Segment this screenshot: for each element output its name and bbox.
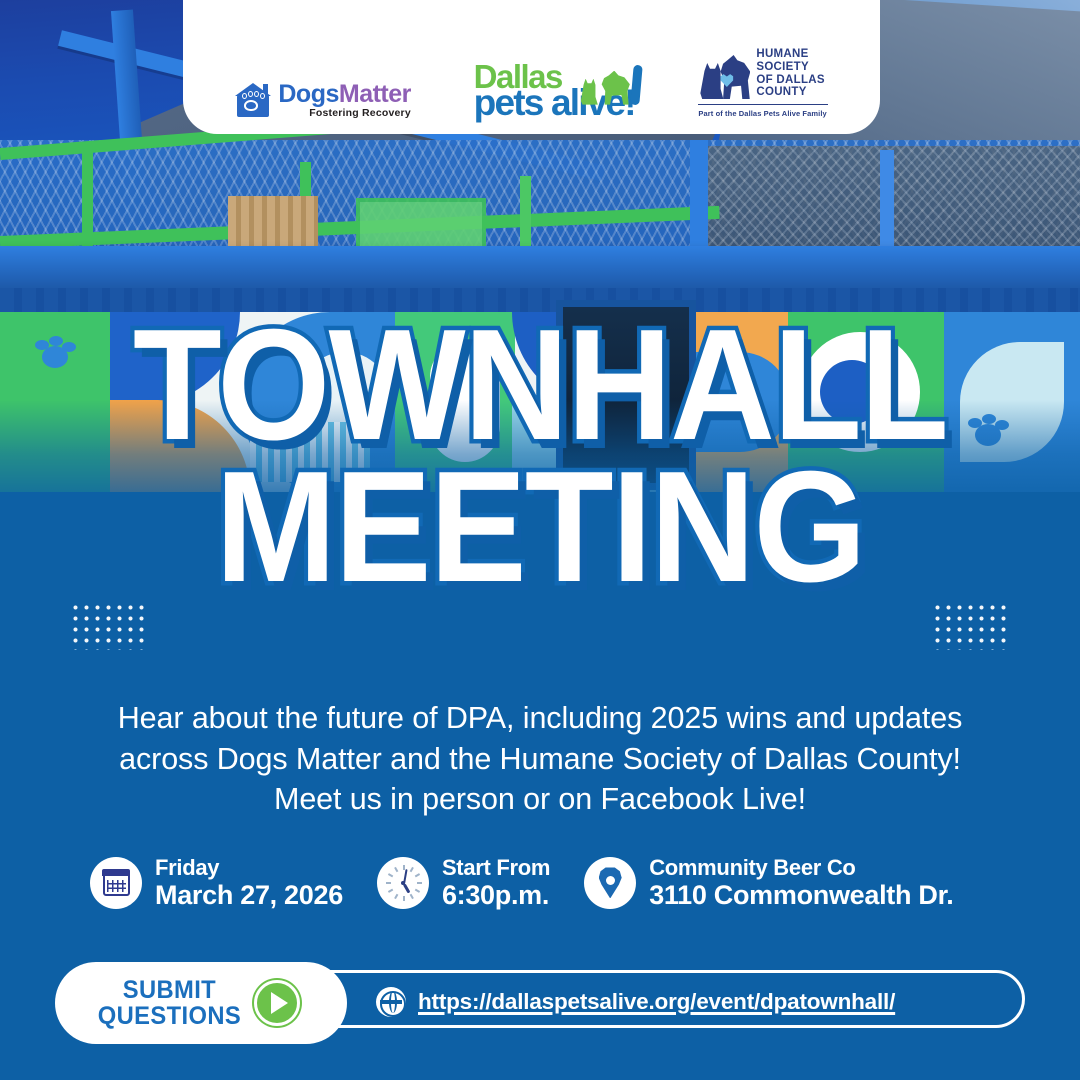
location-line-2: 3110 Commonwealth Dr.	[649, 880, 953, 910]
hs-line4: COUNTY	[756, 86, 825, 99]
submit-label-line-2: QUESTIONS	[97, 1003, 240, 1029]
green-mesh-box	[356, 198, 486, 250]
event-flyer: DogsMatter Fostering Recovery Dallas pet…	[0, 0, 1080, 1080]
description-line-3: Meet us in person or on Facebook Live!	[80, 779, 1000, 820]
time-line-1: Start From	[442, 856, 550, 881]
event-details-row: Friday March 27, 2026	[90, 848, 990, 918]
hs-line2: SOCIETY	[756, 61, 825, 74]
globe-icon	[376, 987, 406, 1017]
logo-dogs-matter: DogsMatter Fostering Recovery	[235, 82, 411, 119]
submit-label-line-1: SUBMIT	[97, 977, 240, 1003]
green-post-1	[82, 150, 93, 250]
sponsor-logo-panel: DogsMatter Fostering Recovery Dallas pet…	[183, 0, 880, 134]
blue-deck-beam	[0, 246, 1080, 292]
dot-grid-right	[932, 602, 1010, 650]
dogs-matter-tagline: Fostering Recovery	[278, 108, 411, 119]
logo-humane-society: HUMANE SOCIETY OF DALLAS COUNTY Part of …	[698, 48, 828, 118]
arrow-right-icon[interactable]	[254, 980, 300, 1026]
divider	[698, 104, 828, 105]
location-line-1: Community Beer Co	[649, 856, 953, 881]
event-url-link[interactable]: https://dallaspetsalive.org/event/dpatow…	[418, 989, 895, 1015]
dogs-matter-word-b: Matter	[339, 80, 411, 108]
cta-footer: https://dallaspetsalive.org/event/dpatow…	[55, 962, 1025, 1044]
page-title: TOWNHALL MEETING	[0, 318, 1080, 596]
description-text: Hear about the future of DPA, including …	[80, 698, 1000, 820]
cat-dog-heart-icon	[700, 53, 750, 99]
hs-line1: HUMANE	[756, 48, 825, 61]
detail-time: Start From 6:30p.m.	[377, 856, 550, 911]
submit-questions-button[interactable]: SUBMIT QUESTIONS	[55, 962, 347, 1044]
house-paw-icon	[235, 83, 271, 117]
description-line-2: across Dogs Matter and the Humane Societ…	[80, 739, 1000, 780]
time-line-2: 6:30p.m.	[442, 880, 550, 910]
clock-icon	[377, 857, 429, 909]
dog-cat-silhouette-icon	[581, 65, 641, 105]
detail-date: Friday March 27, 2026	[90, 856, 343, 911]
description-line-1: Hear about the future of DPA, including …	[80, 698, 1000, 739]
dot-grid-left	[70, 602, 148, 650]
logo-dallas-pets-alive: Dallas pets alive!	[474, 63, 635, 118]
calendar-icon	[90, 857, 142, 909]
headline-line-2: MEETING	[43, 460, 1037, 596]
wooden-crate	[228, 196, 318, 248]
hs-line3: OF DALLAS	[756, 74, 825, 87]
location-pin-icon	[584, 857, 636, 909]
dpa-line1: Dallas	[474, 63, 562, 90]
detail-location: Community Beer Co 3110 Commonwealth Dr.	[584, 856, 953, 911]
date-line-2: March 27, 2026	[155, 880, 343, 910]
date-line-1: Friday	[155, 856, 343, 881]
headline-line-1: TOWNHALL	[43, 318, 1037, 454]
dogs-matter-word-a: Dogs	[278, 80, 339, 108]
url-bar[interactable]: https://dallaspetsalive.org/event/dpatow…	[295, 970, 1025, 1028]
hs-tagline: Part of the Dallas Pets Alive Family	[698, 109, 826, 118]
